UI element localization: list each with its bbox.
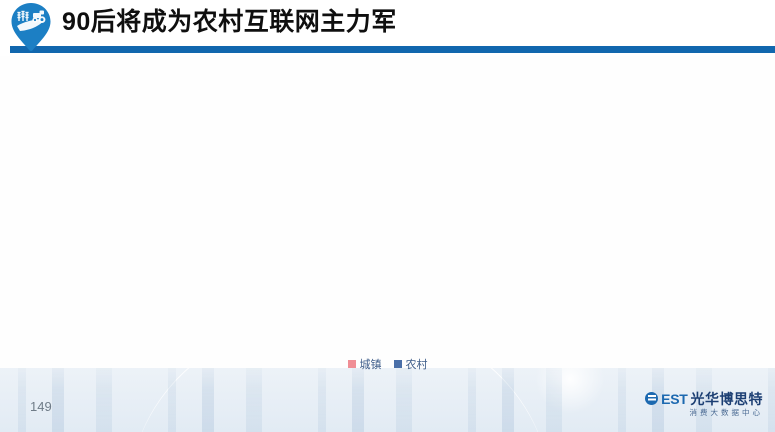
legend-label-urban: 城镇 [360,356,382,372]
slide: 90后将成为农村互联网主力军 60岁及以上2.10%1.10%50-59岁5.2… [0,0,775,432]
best-logo-mark-icon [645,392,658,405]
legend-swatch-rural-icon [394,360,402,368]
footer-logo: EST 光华博思特 消费大数据中心 [645,392,763,417]
legend-item-rural[interactable]: 农村 [394,356,428,372]
chart-panel [0,56,775,368]
page-number: 149 [30,399,52,414]
footer-logo-best: EST [661,392,687,406]
page-title: 90后将成为农村互联网主力军 [62,5,397,39]
chart-legend: 城镇 农村 [0,356,775,372]
footer-logo-subtitle: 消费大数据中心 [645,409,763,417]
footer-logo-cn: 光华博思特 [691,392,764,406]
slide-header: 90后将成为农村互联网主力军 [0,0,775,56]
legend-item-urban[interactable]: 城镇 [348,356,382,372]
location-pin-agriculture-icon [8,2,54,52]
legend-swatch-urban-icon [348,360,356,368]
legend-label-rural: 农村 [406,356,428,372]
